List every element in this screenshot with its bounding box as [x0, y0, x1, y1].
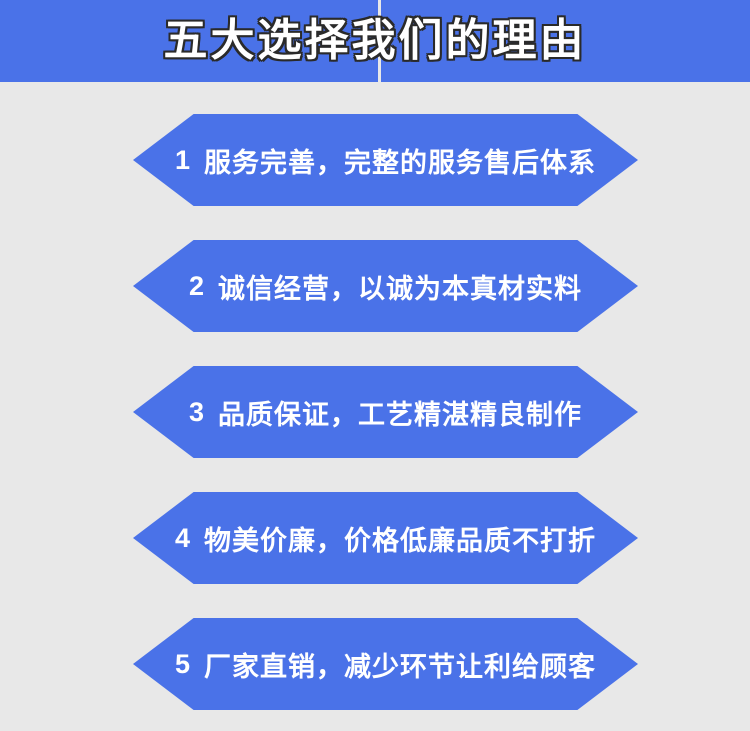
poster-header: 五大选择我们的理由 — [0, 0, 750, 82]
reason-item-2: 2 诚信经营，以诚为本真材实料 — [133, 240, 638, 332]
reason-item-4: 4 物美价廉，价格低廉品质不打折 — [133, 492, 638, 584]
reason-item-2-label: 诚信经营，以诚为本真材实料 — [218, 267, 582, 306]
reason-item-1-number: 1 — [175, 145, 190, 176]
reason-item-5-number: 5 — [175, 649, 190, 680]
reason-item-5: 5 厂家直销，减少环节让利给顾客 — [133, 618, 638, 710]
reason-item-1-label: 服务完善，完整的服务售后体系 — [204, 141, 596, 180]
reason-list: 1 服务完善，完整的服务售后体系 2 诚信经营，以诚为本真材实料 3 品质保证，… — [0, 82, 750, 731]
reason-item-4-number: 4 — [175, 523, 190, 554]
reason-item-1: 1 服务完善，完整的服务售后体系 — [133, 114, 638, 206]
reason-item-3-number: 3 — [189, 397, 204, 428]
reason-item-4-label: 物美价廉，价格低廉品质不打折 — [204, 519, 596, 558]
reason-item-3-label: 品质保证，工艺精湛精良制作 — [218, 393, 582, 432]
promo-poster: 五大选择我们的理由 1 服务完善，完整的服务售后体系 2 诚信经营，以诚为本真材… — [0, 0, 750, 731]
reason-item-5-label: 厂家直销，减少环节让利给顾客 — [204, 645, 596, 684]
page-title: 五大选择我们的理由 — [0, 0, 750, 82]
reason-item-3: 3 品质保证，工艺精湛精良制作 — [133, 366, 638, 458]
reason-item-2-number: 2 — [189, 271, 204, 302]
